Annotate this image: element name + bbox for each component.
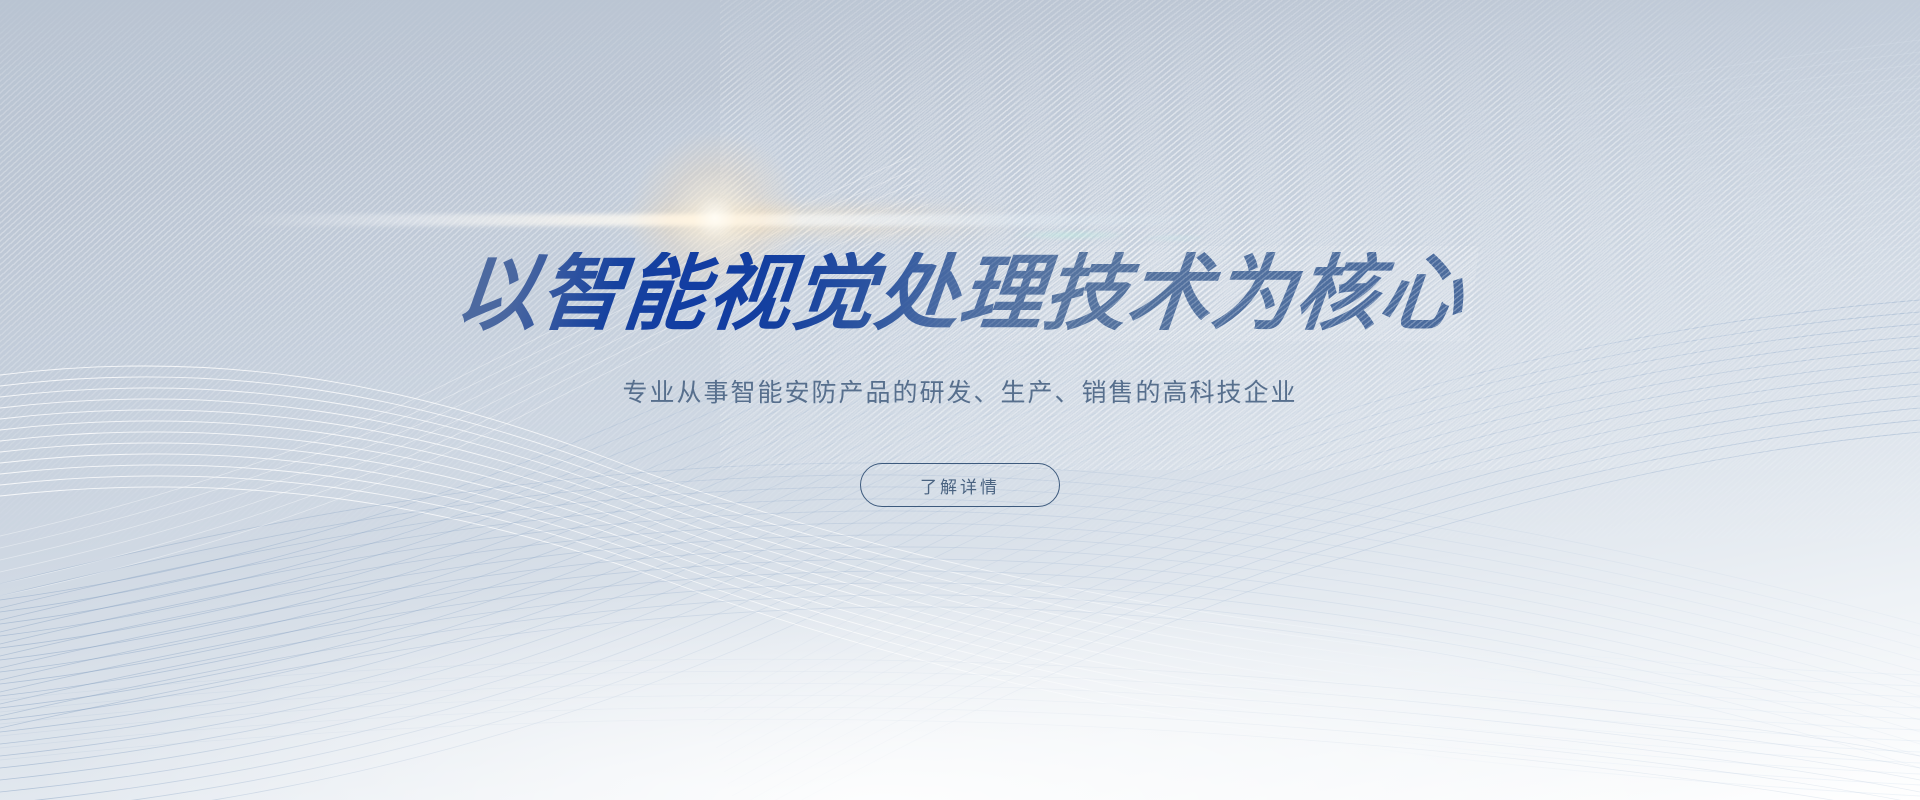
hero-content: 以智能视觉处理技术为核心 专业从事智能安防产品的研发、生产、销售的高科技企业 了… (0, 0, 1920, 800)
hero-headline: 以智能视觉处理技术为核心 (452, 252, 1469, 335)
learn-more-button[interactable]: 了解详情 (860, 463, 1060, 507)
hero-subtitle: 专业从事智能安防产品的研发、生产、销售的高科技企业 (622, 373, 1297, 409)
hero-banner: 以智能视觉处理技术为核心 专业从事智能安防产品的研发、生产、销售的高科技企业 了… (0, 0, 1920, 800)
